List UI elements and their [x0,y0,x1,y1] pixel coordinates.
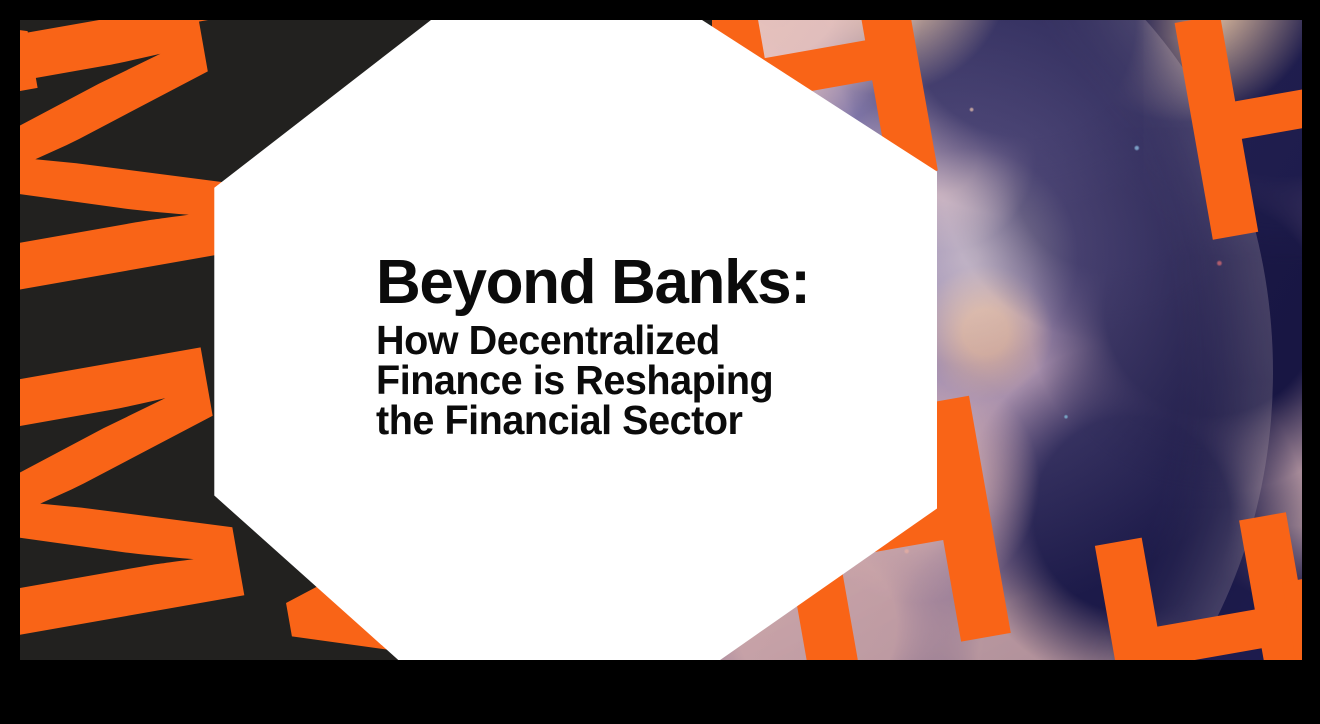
screenshot-canvas: M M M M M M H H H H H H [0,0,1320,724]
subtitle-line-3: the Financial Sector [376,400,878,440]
subtitle-line-2: Finance is Reshaping [376,360,878,400]
title-block: Beyond Banks: How Decentralized Finance … [376,252,896,440]
h-monogram-icon: H [1151,20,1302,258]
presentation-slide: M M M M M M H H H H H H [20,20,1302,660]
m-monogram-icon: M [20,549,53,660]
h-monogram-icon: H [920,20,1190,22]
subtitle-line-1: How Decentralized [376,320,878,360]
page-title: Beyond Banks: [376,252,896,314]
